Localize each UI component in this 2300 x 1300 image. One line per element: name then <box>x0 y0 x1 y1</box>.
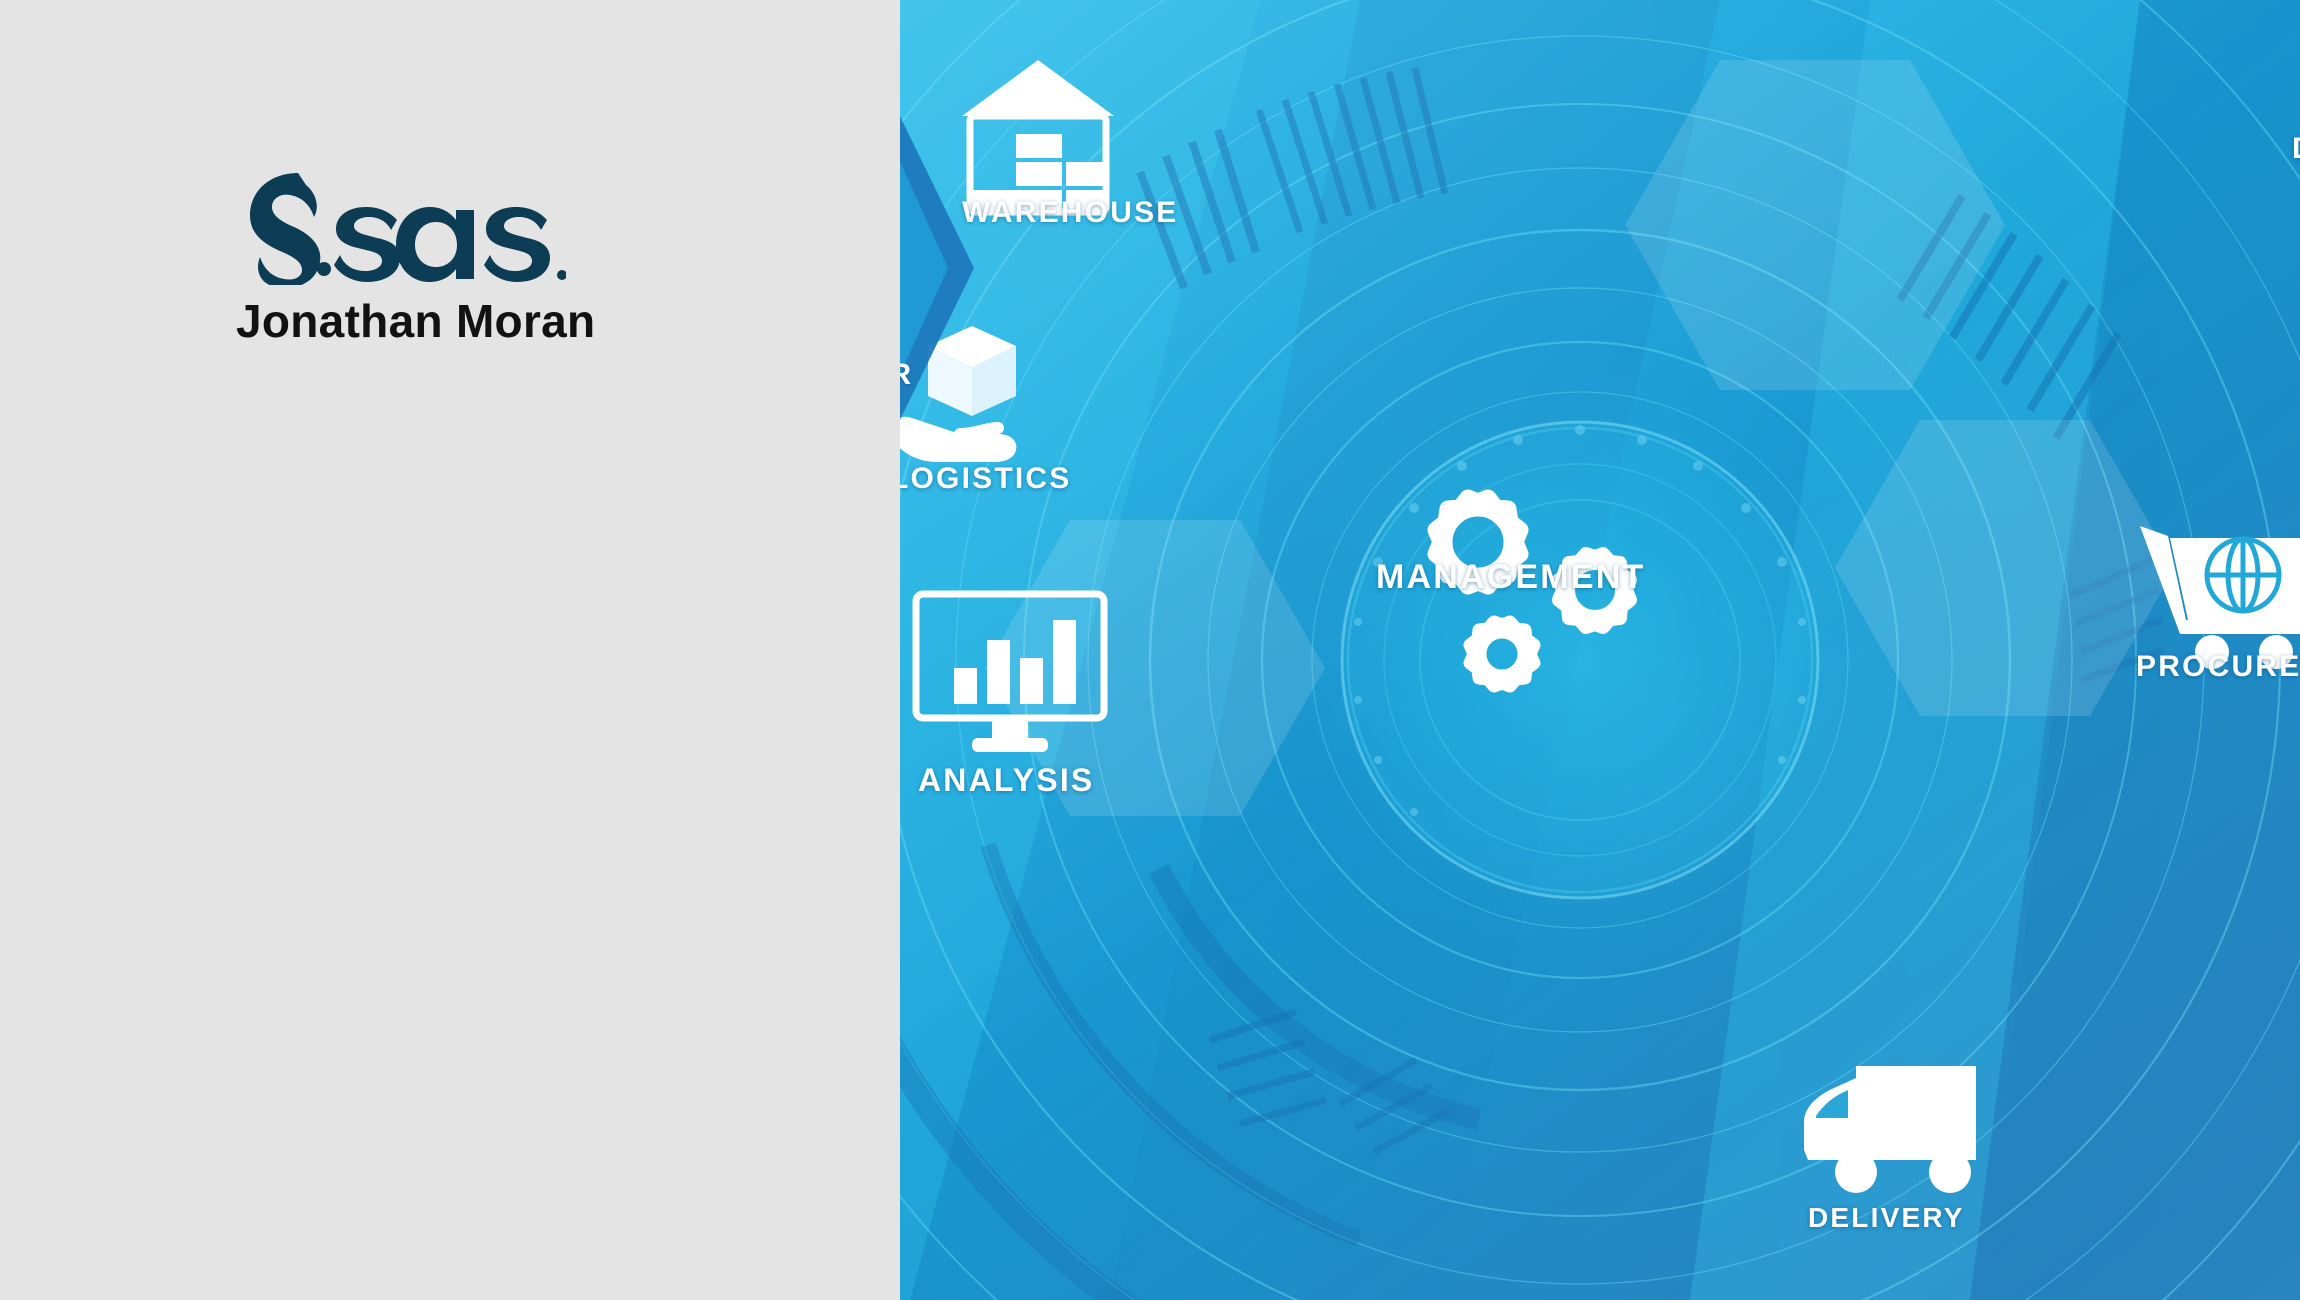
monitor-bar-chart-icon <box>910 588 1110 758</box>
delivery-truck-icon <box>1798 1060 1998 1200</box>
supply-chain-artwork: WAREHOUSE DISTRIBUTION <box>740 0 2300 1300</box>
shopping-cart-globe-icon <box>2140 520 2300 670</box>
warehouse-icon <box>958 56 1118 206</box>
network-nodes-icon <box>2280 10 2300 160</box>
brand-block: Jonathan Moran <box>236 165 656 345</box>
presenter-name: Jonathan Moran <box>236 297 656 345</box>
gears-icon <box>1382 480 1672 710</box>
title-panel: Jonathan Moran <box>0 0 900 1300</box>
slide-canvas: WAREHOUSE DISTRIBUTION <box>0 0 2300 1300</box>
sas-logo <box>236 165 566 285</box>
